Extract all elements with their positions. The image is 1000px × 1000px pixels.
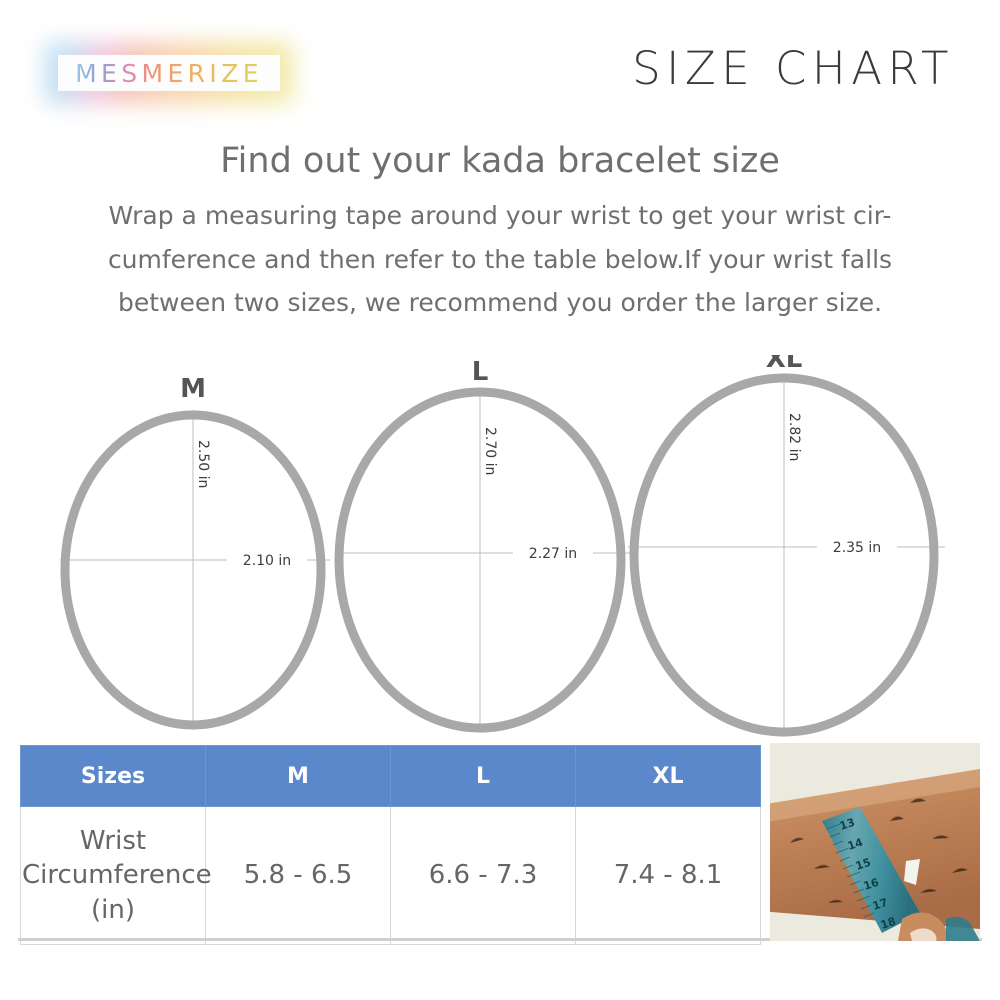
intro-body-line: Wrap a measuring tape around your wrist … [44, 194, 956, 238]
wrist-measurement-photo: 13 14 15 16 17 18 [770, 743, 980, 941]
intro-body: Wrap a measuring tape around your wrist … [44, 194, 956, 325]
table-header-xl: XL [576, 746, 761, 807]
oval-diagram-l: L 2.70 in 2.27 in [335, 357, 630, 733]
oval-xl-height-label: 2.82 in [786, 413, 802, 461]
oval-m-width-label: 2.10 in [243, 553, 291, 569]
oval-m-height-label: 2.50 in [195, 440, 211, 488]
oval-l-width-label: 2.27 in [529, 546, 577, 562]
table-row: Wrist Circumference (in) 5.8 - 6.5 6.6 -… [21, 807, 761, 945]
oval-diagram-m: M 2.50 in 2.10 in [60, 374, 330, 730]
brand-wordmark: MESMERIZE [75, 59, 263, 88]
row-label-wrist-circumference: Wrist Circumference (in) [21, 807, 206, 945]
logo-plate: MESMERIZE [58, 55, 280, 91]
intro-body-line: cumference and then refer to the table b… [44, 238, 956, 282]
cell-wrist-l: 6.6 - 7.3 [391, 807, 576, 945]
cell-wrist-xl: 7.4 - 8.1 [576, 807, 761, 945]
page-title: SIZE CHART [632, 42, 954, 95]
row-label-line: Circumference [22, 858, 204, 892]
oval-xl-size-label: XL [766, 355, 803, 374]
oval-xl-width-label: 2.35 in [833, 540, 881, 556]
oval-diagram-xl: XL 2.82 in 2.35 in [628, 355, 945, 737]
cell-wrist-m: 5.8 - 6.5 [206, 807, 391, 945]
table-header-l: L [391, 746, 576, 807]
size-table: Sizes M L XL Wrist Circumference (in) 5.… [20, 745, 761, 945]
oval-l-height-label: 2.70 in [482, 427, 498, 475]
oval-diagrams: M 2.50 in 2.10 in L 2.70 in 2.27 in XL 2… [0, 355, 1000, 745]
table-header-row: Sizes M L XL [21, 746, 761, 807]
intro-section: Find out your kada bracelet size Wrap a … [0, 140, 1000, 325]
table-header-m: M [206, 746, 391, 807]
row-label-line: (in) [22, 893, 204, 927]
row-label-line: Wrist [22, 824, 204, 858]
intro-body-line: between two sizes, we recommend you orde… [44, 281, 956, 325]
table-header-sizes: Sizes [21, 746, 206, 807]
oval-l-size-label: L [472, 357, 489, 387]
oval-m-size-label: M [180, 374, 206, 404]
brand-logo: MESMERIZE [44, 42, 294, 104]
intro-heading: Find out your kada bracelet size [0, 140, 1000, 182]
